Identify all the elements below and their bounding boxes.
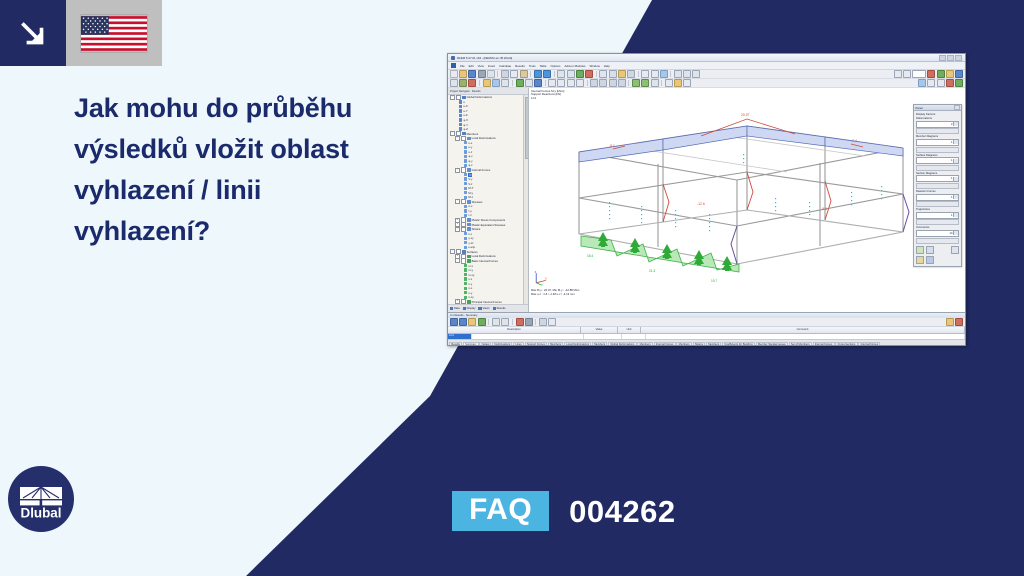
tree-item-icon [464,173,467,176]
selection-icon[interactable] [660,70,668,78]
navigator-tab-project[interactable]: Project Navigator [450,90,470,93]
undo-icon[interactable] [534,70,542,78]
tree-item-icon [464,268,467,271]
table-tab[interactable]: Nodes [479,342,491,346]
navigator-tree-item-label: u-z [468,150,472,154]
table-new-icon[interactable] [450,318,458,326]
arrow-down-right-icon [16,16,50,50]
table-close-icon[interactable] [955,318,963,326]
navigator-tab-results[interactable]: Results [472,90,481,93]
svg-text:18.4: 18.4 [587,254,593,258]
navigator-tree-item-label: Stresses [472,200,483,204]
tree-item-icon [464,273,467,276]
panel-field: Member Diagrams1 [916,135,959,152]
page-title: Jak mohu do průběhu výsledků vložit obla… [74,88,392,252]
help-icon[interactable] [946,70,954,78]
table-col-a[interactable]: Description [448,327,581,333]
table-units-icon[interactable] [548,318,556,326]
zoom-out-icon[interactable] [567,70,575,78]
menu-item-help[interactable]: Help [604,64,610,68]
toolbar-separator [661,80,662,86]
navigator-tree-item-label: u [463,100,465,104]
navigator-tree-item-label: m-y [468,268,473,272]
info-icon[interactable] [955,70,963,78]
svg-text:19.7: 19.7 [711,279,717,283]
mirror-icon[interactable] [567,79,575,87]
navigator-tree-item-label: M-T [468,186,473,190]
navigator-tree-item-label: V-y [468,177,472,181]
table-tab[interactable]: Strains [693,342,706,346]
panel-field-slider[interactable] [916,183,959,189]
table-tab[interactable]: Members [676,342,691,346]
panel-spinner-icon[interactable] [953,195,958,199]
svg-text:20.07: 20.07 [741,113,750,117]
panel-field-slider[interactable] [916,147,959,153]
navigator-tree-item-label: τ-y [468,209,471,213]
visibility-icon[interactable] [927,79,935,87]
tree-item-icon [464,155,467,158]
printout-icon[interactable] [927,70,935,78]
xyz-axis-icon: X Z Y [533,270,549,286]
panel-spinner-icon[interactable] [953,122,958,126]
next-lc-icon[interactable] [903,70,911,78]
panel-group-title: Display Factors [914,111,961,116]
panel-spinner-icon[interactable] [953,177,958,181]
menu-item-edit[interactable]: Edit [469,64,474,68]
panel-field-slider[interactable] [916,165,959,171]
svg-text:-7.4: -7.4 [851,139,857,143]
table-export-icon[interactable] [516,318,524,326]
faq-badge-label: FAQ [452,491,549,531]
navigator-tree-item-label: M-z [468,195,473,199]
toolbar-separator [512,80,513,86]
move-icon[interactable] [548,79,556,87]
navigator-bottom-tabs[interactable]: Data Display Views Results [448,304,528,312]
panel-field: Increments10 [916,226,959,243]
tree-expander-icon[interactable]: - [455,227,460,232]
filter-icon[interactable] [916,256,924,264]
tree-item-icon [464,241,467,244]
navigator-tree-item-label: Global Deformations [467,95,493,99]
table-row-header[interactable]: LC1 [448,334,472,339]
view-top-icon[interactable] [590,79,598,87]
clipping-icon[interactable] [946,79,954,87]
table-tab[interactable]: Internal Forces [813,342,835,346]
table-filter-icon[interactable] [468,318,476,326]
redo-icon[interactable] [543,70,551,78]
rfem-application-window: RFEM 5.27.01 x64 - [DEMO2-en.rf5 World] … [447,53,966,346]
navigator-tree-item-label: Principal Internal Forces [472,300,502,304]
navigator-tree-item-label: u-Y [463,109,467,113]
smoothing-region-icon[interactable] [632,79,640,87]
table-tab[interactable]: Lines [513,342,524,346]
table-next-icon[interactable] [501,318,509,326]
navigator-tree-item-label: γ-xy [468,236,473,240]
navigator-bottom-tab-views[interactable]: Views [478,307,489,310]
panel-field-label: Increments [916,226,959,229]
edit-colors-icon[interactable] [916,246,924,254]
menu-item-calculate[interactable]: Calculate [499,64,511,68]
toolbar-separator [670,71,671,77]
viewport-extreme-values: Max M-y : 20.07, Min M-y : -42.88 kNm Ma… [531,289,579,296]
tree-item-icon [464,246,467,249]
panel-field-value: 10 [950,232,953,235]
tree-item-icon [464,237,467,240]
tree-checkbox[interactable] [461,199,466,204]
navigator-tree-item-label: τ-z [468,213,471,217]
smoothing-line-icon[interactable] [641,79,649,87]
tree-item-icon [467,218,470,221]
navigator-bottom-tab-data[interactable]: Data [450,307,460,310]
tree-expander-icon[interactable]: - [455,168,460,173]
save-icon[interactable] [468,70,476,78]
table-tab[interactable]: Members [706,342,721,346]
view-side-icon[interactable] [609,79,617,87]
table-tab[interactable]: Member Slendernesses [756,342,788,346]
window-controls[interactable] [939,55,962,61]
toolbar-separator [497,71,498,77]
prev-lc-icon[interactable] [894,70,902,78]
navigator-tree-item-label: φ-Z [463,127,467,131]
paste-icon[interactable] [520,70,528,78]
navigator-tree-item-label: γ-xz [468,241,473,245]
model-viewport[interactable]: Internal Forces M-y [kNm] Support Reacti… [529,88,965,312]
tree-item-icon [464,209,467,212]
tree-expander-icon[interactable]: - [450,95,455,100]
navigator-tree[interactable]: -Global Deformationsuu-Xu-Yu-Zφ-Xφ-Yφ-Z-… [448,95,528,304]
maximize-icon[interactable] [947,55,954,61]
render-icon[interactable] [599,70,607,78]
panel-close-icon[interactable] [954,105,960,110]
panel-spinner-icon[interactable] [953,213,958,217]
table-tab[interactable]: Internal Forces [858,342,880,346]
tree-item-icon [462,96,465,99]
panel-field-input[interactable]: 1 [916,139,959,146]
panel-title: Panel [916,106,923,110]
navigator-tree-item-label: φ-Y [463,123,468,127]
tree-item-icon [459,109,462,112]
preview-icon[interactable] [487,70,495,78]
tree-item-icon [464,191,467,194]
display-props-icon[interactable] [918,79,926,87]
table-cell-value[interactable] [584,334,622,339]
settings-icon[interactable] [926,256,934,264]
tree-item-icon [467,168,470,171]
navigator-tree-item-label: v-y [468,282,472,286]
navigator-tree-item-label: u-X [463,104,467,108]
table-help-icon[interactable] [946,318,954,326]
view-front-icon[interactable] [599,79,607,87]
navigator-tree-item-label: Plastic Equivalent Stresses [472,223,506,227]
member-icon[interactable] [468,79,476,87]
app-window-icon [451,56,455,60]
table-cell-description[interactable] [472,334,584,339]
guide-icon[interactable] [692,70,700,78]
menu-item-file[interactable]: File [460,64,465,68]
table-tab[interactable]: Global Deformations [608,342,636,346]
copy-icon[interactable] [510,70,518,78]
solid-icon[interactable] [492,79,500,87]
navigator-scrollbar[interactable] [523,95,528,304]
panel-buttons[interactable] [914,244,961,254]
close-icon[interactable] [955,55,962,61]
toolbar-separator [545,80,546,86]
panel-field-input[interactable]: 1 [916,157,959,164]
table-row[interactable]: LC1 [448,334,965,339]
results-icon[interactable] [627,70,635,78]
panel-field-input[interactable]: 2 [916,121,959,128]
navigator-tree-item-label: ε-x [468,232,472,236]
tree-item-icon [464,146,467,149]
table-col-d[interactable]: Comment [641,327,965,333]
navigator-bottom-tab-views-label: Views [482,307,489,310]
menu-item-options[interactable]: Options [550,64,560,68]
toolbar-separator [587,80,588,86]
navigator-tabs[interactable]: Project Navigator Results [448,88,528,95]
navigator-tree-item-label: φ-z [468,163,472,167]
table-col-c[interactable]: Unit [618,327,641,333]
navigator-bottom-tab-display-label: Display [467,307,476,310]
tree-item-icon [464,264,467,267]
project-navigator-panel: Project Navigator Results -Global Deform… [448,88,529,312]
navigator-tree-item-label: Local Deformations [472,254,496,258]
menu-item-addons[interactable]: Add-on Modules [564,64,585,68]
panel-field-label: Member Diagrams [916,135,959,138]
panel-field-slider[interactable] [916,219,959,225]
menu-item-table[interactable]: Table [540,64,547,68]
panel-field-input[interactable]: 1 [916,175,959,182]
zoom-in-icon[interactable] [557,70,565,78]
display-tab-icon [463,307,466,310]
views-tab-icon [478,307,481,310]
panel-field: Trajectories1 [916,208,959,225]
table-tab[interactable]: Members [637,342,652,346]
tree-item-icon [467,227,470,230]
load-icon[interactable] [534,79,542,87]
print-icon[interactable] [478,70,486,78]
toolbar-secondary[interactable] [448,79,965,88]
tree-item-icon [464,232,467,235]
panel-spinner-icon[interactable] [953,159,958,163]
section-icon[interactable] [651,79,659,87]
navigator-tree-item-label: M-y [468,191,473,195]
table-tab[interactable]: Set of Members [789,342,812,346]
panel-field-label: Deformations [916,117,959,120]
panel-toggle-icon[interactable] [955,79,963,87]
tree-checkbox[interactable] [461,258,466,263]
faq-number: 004262 [569,496,675,527]
tree-item-icon [464,291,467,294]
tree-item-icon [464,187,467,190]
tree-item-icon [467,137,470,140]
table-tab[interactable]: Results [449,342,462,346]
table-tab[interactable]: Deformations [492,342,512,346]
svg-text:21.3: 21.3 [649,269,655,273]
tree-item-icon [467,223,470,226]
app-menu-icon[interactable] [451,63,456,68]
svg-text:-9.8: -9.8 [821,207,827,211]
tree-expander-icon[interactable]: - [455,258,460,263]
calculate-icon[interactable] [618,70,626,78]
hinge-icon[interactable] [525,79,533,87]
panel-field-slider[interactable] [916,201,959,207]
tree-item-icon [464,282,467,285]
svg-text:Dlubal: Dlubal [21,506,62,521]
navigator-tree-item-label: u-x [468,141,472,145]
measure-icon[interactable] [683,79,691,87]
navigator-bottom-tab-data-label: Data [454,307,460,310]
new-icon[interactable] [450,70,458,78]
panel-field-value: 2 [951,123,953,126]
panel-field-value: 1 [951,141,953,144]
wireframe-icon[interactable] [609,70,617,78]
rotate-icon[interactable] [557,79,565,87]
navigator-tree-item-label: v-x [468,277,472,281]
language-flag-block[interactable] [66,0,162,66]
tree-item-icon [467,255,470,258]
table-cell-unit[interactable] [622,334,646,339]
panel-footer-buttons[interactable] [914,254,961,264]
navigator-bottom-tab-results[interactable]: Results [493,307,506,310]
menu-item-view[interactable]: View [478,64,484,68]
display-factors-panel[interactable]: Panel Display Factors Deformations2Membe… [913,104,962,267]
panel-field: Deformations2 [916,117,959,134]
panel-field-input[interactable]: 1 [916,212,959,219]
scale-icon[interactable] [576,79,584,87]
navigator-tree-item-label: ε-eqv [468,245,475,249]
viewport-result-label: Internal Forces M-y [kNm] Support Reacti… [531,90,564,101]
toolbar-primary[interactable] [448,70,965,79]
tree-item-icon [464,205,467,208]
navigator-tree-item-label: φ-X [463,118,468,122]
table-tab-strip[interactable]: ResultsSummaryNodesDeformationsLinesSupp… [448,339,965,347]
menu-item-tools[interactable]: Tools [529,64,536,68]
panel-field-input[interactable]: 10 [916,230,959,237]
panel-field-input[interactable]: 1 [916,194,959,201]
minimize-icon[interactable] [939,55,946,61]
panel-field-label: Reaction Forces [916,190,959,193]
navigator-tree-item-label: Local Deformations [472,136,496,140]
data-tab-icon [450,307,453,310]
menu-item-results[interactable]: Results [515,64,525,68]
menu-bar[interactable]: File Edit View Insert Calculate Results … [448,62,965,70]
tree-item-icon [464,159,467,162]
navigator-tree-item-label: m-xy [468,273,474,277]
table-print-icon[interactable] [525,318,533,326]
comment-icon[interactable] [674,79,682,87]
zoom-all-icon[interactable] [585,70,593,78]
color-scale-icon[interactable] [926,246,934,254]
line-icon[interactable] [459,79,467,87]
table-tab[interactable]: Cross-Sections [835,342,857,346]
svg-text:-8.1: -8.1 [609,144,615,148]
navigator-tree-item-label: V-z [468,182,472,186]
view-iso-icon[interactable] [618,79,626,87]
us-flag-icon [81,15,147,52]
rfem-module-icon[interactable] [937,70,945,78]
panel-spinner-icon[interactable] [953,231,958,235]
table-prev-icon[interactable] [492,318,500,326]
tree-item-icon [459,114,462,117]
table-tab[interactable]: Local Deformations [564,342,591,346]
combination-icon[interactable] [651,70,659,78]
table-tab[interactable]: Members [592,342,607,346]
support-icon[interactable] [516,79,524,87]
toolbar-separator [488,319,489,325]
table-title: 3.1 Results - Summary [450,314,477,317]
tree-expander-icon[interactable]: - [455,136,460,141]
grid-icon[interactable] [674,70,682,78]
table-tab[interactable]: Summary [463,342,479,346]
table-settings-icon[interactable] [539,318,547,326]
cut-icon[interactable] [501,70,509,78]
panel-field: Section Diagrams1 [916,172,959,189]
panel-field: Surface Diagrams1 [916,154,959,171]
layers-icon[interactable] [937,79,945,87]
navigator-tree-item-label: Members [467,132,479,136]
navigator-bottom-tab-display[interactable]: Display [463,307,476,310]
table-tab[interactable]: Support Forces [525,342,547,346]
panel-field-slider[interactable] [916,128,959,134]
toolbar-separator [479,80,480,86]
panel-spinner-icon[interactable] [953,140,958,144]
table-tab[interactable]: Coefficients for Buckling [722,342,755,346]
tree-item-icon [459,100,462,103]
table-cell-comment[interactable] [646,334,965,339]
navigator-tree-item-label: u-y [468,145,472,149]
panel-field-value: 1 [951,214,953,217]
tree-checkbox[interactable] [461,227,466,232]
panel-field-label: Surface Diagrams [916,154,959,157]
tree-item-icon [467,259,470,262]
tree-expander-icon[interactable]: - [455,199,460,204]
snap-icon[interactable] [683,70,691,78]
scrollbar-thumb[interactable] [525,97,529,159]
menu-item-window[interactable]: Window [590,64,600,68]
print-icon[interactable] [951,246,959,254]
dimension-icon[interactable] [665,79,673,87]
table-tab[interactable]: Internal Forces [654,342,676,346]
surface-icon[interactable] [483,79,491,87]
table-col-b[interactable]: Value [581,327,618,333]
toolbar-separator [638,71,639,77]
faq-badge-group: FAQ 004262 [452,491,676,531]
tree-item-icon [459,105,462,108]
table-edit-icon[interactable] [459,318,467,326]
load-case-icon[interactable] [641,70,649,78]
navigator-tree-item-label: Plastic Stress Components [472,218,506,222]
table-tab[interactable]: Members [548,342,563,346]
structure-3d-model[interactable]: 20.07 -8.1 -7.4 -12.6 -9.8 [551,106,911,291]
dlubal-logo: Dlubal [8,466,74,532]
corner-arrow-block [0,0,66,66]
viewport-info-line2: Max u-z : 1.8 / -1.48 u-z / -4.13 mm [531,293,579,296]
navigator-tree-item-label: Strains [472,227,481,231]
tree-item-icon [464,287,467,290]
menu-item-insert[interactable]: Insert [488,64,495,68]
tree-checkbox[interactable] [461,167,466,172]
table-sort-icon[interactable] [478,318,486,326]
zoom-window-icon[interactable] [576,70,584,78]
node-icon[interactable] [450,79,458,87]
lc-dropdown-icon[interactable] [912,70,926,78]
tree-checkbox[interactable] [461,136,466,141]
table-toolbar[interactable] [448,318,965,327]
app-body: Project Navigator Results -Global Deform… [448,88,965,312]
results-tab-icon [493,307,496,310]
opening-icon[interactable] [501,79,509,87]
open-icon[interactable] [459,70,467,78]
